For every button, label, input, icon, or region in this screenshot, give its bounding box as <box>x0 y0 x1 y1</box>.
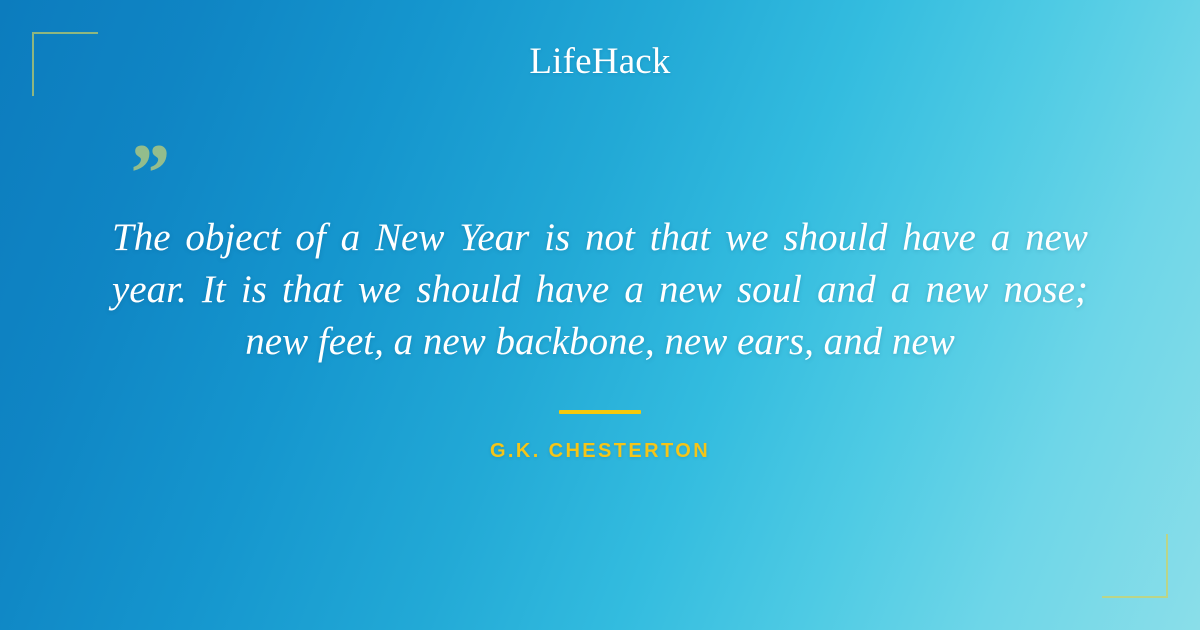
quote-word: that <box>650 212 711 264</box>
quote-word: that <box>282 264 343 316</box>
quote-word: have <box>536 264 610 316</box>
quote-word: a <box>891 264 911 316</box>
quotation-mark-icon: ” <box>126 132 166 216</box>
quote-word: Year <box>459 212 529 264</box>
quote-word: soul <box>737 264 802 316</box>
attribution-divider <box>559 410 641 414</box>
quote-word: new <box>659 264 722 316</box>
brand-logo: LifeHack <box>0 40 1200 84</box>
quote-word: should <box>416 264 520 316</box>
quote-text-block: The object of a New Year is not that we … <box>112 212 1088 368</box>
quote-word: is <box>241 264 267 316</box>
quote-word: a <box>624 264 644 316</box>
quote-word: new <box>925 264 988 316</box>
quote-word: The <box>112 212 171 264</box>
quote-word: year. <box>112 264 187 316</box>
quote-word: should <box>783 212 887 264</box>
quote-word: New <box>375 212 444 264</box>
quote-word: It <box>202 264 226 316</box>
quote-line-1: The object of a New Year is not that we … <box>112 212 1088 264</box>
quote-word: a <box>991 212 1011 264</box>
quote-line-3: new feet, a new backbone, new ears, and … <box>112 316 1088 368</box>
quote-word: object <box>185 212 280 264</box>
quote-word: a <box>341 212 361 264</box>
quote-word: have <box>902 212 976 264</box>
quote-word: of <box>295 212 325 264</box>
quote-author: G.K. CHESTERTON <box>0 438 1200 464</box>
quote-word: is <box>544 212 570 264</box>
quote-word: not <box>585 212 635 264</box>
quote-word: and <box>817 264 876 316</box>
quote-line-2: year. It is that we should have a new so… <box>112 264 1088 316</box>
quote-word: we <box>358 264 401 316</box>
corner-bracket-bottom-right-icon <box>1102 534 1168 598</box>
quote-word: we <box>725 212 768 264</box>
quote-card: LifeHack ” The object of a New Year is n… <box>0 0 1200 630</box>
quote-word: nose; <box>1003 264 1087 316</box>
quote-word: new <box>1025 212 1088 264</box>
